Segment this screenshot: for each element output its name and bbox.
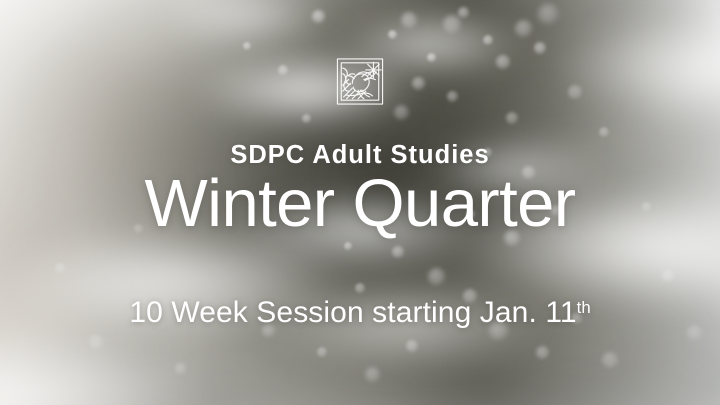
session-detail-text: 10 Week Session starting Jan. 11th	[0, 296, 720, 330]
celtic-knotwork-square-logo-icon	[336, 57, 384, 106]
content-overlay: SDPC Adult Studies Winter Quarter 10 Wee…	[0, 0, 720, 405]
promo-graphic: SDPC Adult Studies Winter Quarter 10 Wee…	[0, 0, 720, 405]
page-title: Winter Quarter	[0, 168, 720, 240]
session-detail-main: 10 Week Session starting Jan. 11	[129, 296, 576, 329]
session-date-ordinal: th	[577, 298, 591, 317]
